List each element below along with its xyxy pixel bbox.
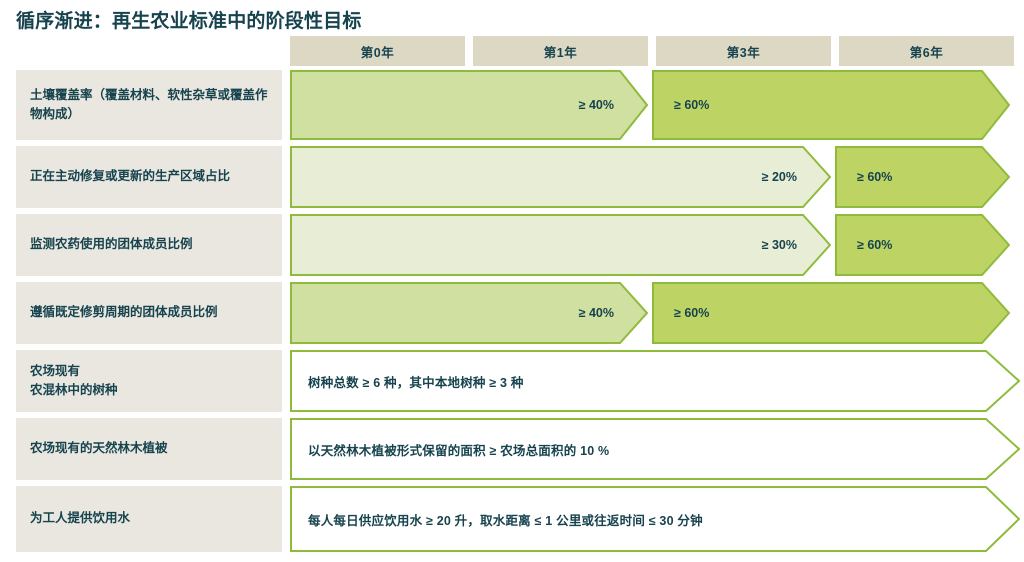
milestone-arrow: 每人每日供应饮用水 ≥ 20 升，取水距离 ≤ 1 公里或往返时间 ≤ 30 分… bbox=[290, 486, 1020, 552]
milestone-row-label-text: 正在主动修复或更新的生产区域占比 bbox=[30, 167, 230, 186]
milestone-row-track: ≥ 30%≥ 60% bbox=[290, 214, 1024, 276]
milestone-row: 农场现有的天然林木植被以天然林木植被形式保留的面积 ≥ 农场总面积的 10 % bbox=[0, 418, 1024, 480]
milestone-arrow-label: ≥ 60% bbox=[674, 98, 709, 112]
milestone-row-track: ≥ 20%≥ 60% bbox=[290, 146, 1024, 208]
milestone-row-label: 农场现有 农混林中的树种 bbox=[16, 350, 282, 412]
milestone-arrow: ≥ 60% bbox=[652, 282, 1010, 344]
timeline-header-cell: 第3年 bbox=[656, 36, 831, 66]
milestone-arrow: ≥ 40% bbox=[290, 282, 648, 344]
timeline-header-cell: 第1年 bbox=[473, 36, 648, 66]
timeline-header-label: 第3年 bbox=[727, 42, 760, 61]
timeline-header-label: 第1年 bbox=[544, 42, 577, 61]
milestone-arrow-label: ≥ 60% bbox=[674, 306, 709, 320]
milestone-row-label-text: 农场现有 农混林中的树种 bbox=[30, 362, 118, 401]
milestone-arrow-label: 树种总数 ≥ 6 种，其中本地树种 ≥ 3 种 bbox=[308, 372, 524, 391]
milestone-row-label-text: 监测农药使用的团体成员比例 bbox=[30, 235, 193, 254]
milestone-row-label: 为工人提供饮用水 bbox=[16, 486, 282, 552]
milestone-arrow: ≥ 20% bbox=[290, 146, 831, 208]
page-title: 循序渐进：再生农业标准中的阶段性目标 bbox=[16, 6, 362, 33]
milestone-arrow: ≥ 60% bbox=[652, 70, 1010, 140]
milestone-row-label-text: 遵循既定修剪周期的团体成员比例 bbox=[30, 303, 218, 322]
milestone-row-label: 监测农药使用的团体成员比例 bbox=[16, 214, 282, 276]
milestone-row-label-text: 农场现有的天然林木植被 bbox=[30, 439, 168, 458]
milestone-row: 正在主动修复或更新的生产区域占比≥ 20%≥ 60% bbox=[0, 146, 1024, 208]
milestone-row: 农场现有 农混林中的树种树种总数 ≥ 6 种，其中本地树种 ≥ 3 种 bbox=[0, 350, 1024, 412]
milestone-arrow-label: ≥ 40% bbox=[579, 98, 614, 112]
milestone-row-label: 农场现有的天然林木植被 bbox=[16, 418, 282, 480]
milestone-row-label: 土壤覆盖率（覆盖材料、软性杂草或覆盖作物构成） bbox=[16, 70, 282, 140]
milestone-row: 遵循既定修剪周期的团体成员比例≥ 40%≥ 60% bbox=[0, 282, 1024, 344]
timeline-header-label: 第6年 bbox=[910, 42, 943, 61]
milestone-row: 监测农药使用的团体成员比例≥ 30%≥ 60% bbox=[0, 214, 1024, 276]
milestone-row: 为工人提供饮用水每人每日供应饮用水 ≥ 20 升，取水距离 ≤ 1 公里或往返时… bbox=[0, 486, 1024, 552]
milestone-row-label-text: 土壤覆盖率（覆盖材料、软性杂草或覆盖作物构成） bbox=[30, 86, 268, 125]
milestone-arrow-label: 每人每日供应饮用水 ≥ 20 升，取水距离 ≤ 1 公里或往返时间 ≤ 30 分… bbox=[308, 510, 703, 529]
milestone-arrow: ≥ 40% bbox=[290, 70, 648, 140]
timeline-header-label: 第0年 bbox=[361, 42, 394, 61]
milestone-arrow-label: ≥ 40% bbox=[579, 306, 614, 320]
milestone-arrow-label: ≥ 20% bbox=[762, 170, 797, 184]
milestone-arrow: ≥ 60% bbox=[835, 146, 1010, 208]
milestone-arrow-label: ≥ 60% bbox=[857, 170, 892, 184]
milestone-row: 土壤覆盖率（覆盖材料、软性杂草或覆盖作物构成）≥ 40%≥ 60% bbox=[0, 70, 1024, 140]
milestone-arrow: 树种总数 ≥ 6 种，其中本地树种 ≥ 3 种 bbox=[290, 350, 1020, 412]
milestone-row-track: 每人每日供应饮用水 ≥ 20 升，取水距离 ≤ 1 公里或往返时间 ≤ 30 分… bbox=[290, 486, 1024, 552]
timeline-header-cell: 第6年 bbox=[839, 36, 1014, 66]
milestone-row-label-text: 为工人提供饮用水 bbox=[30, 509, 130, 528]
milestone-chart: 土壤覆盖率（覆盖材料、软性杂草或覆盖作物构成）≥ 40%≥ 60%正在主动修复或… bbox=[0, 70, 1024, 562]
milestone-arrow-label: ≥ 30% bbox=[762, 238, 797, 252]
milestone-row-label: 遵循既定修剪周期的团体成员比例 bbox=[16, 282, 282, 344]
milestone-row-label: 正在主动修复或更新的生产区域占比 bbox=[16, 146, 282, 208]
milestone-row-track: ≥ 40%≥ 60% bbox=[290, 282, 1024, 344]
milestone-arrow-label: 以天然林木植被形式保留的面积 ≥ 农场总面积的 10 % bbox=[308, 440, 609, 459]
milestone-arrow: ≥ 60% bbox=[835, 214, 1010, 276]
timeline-header-cell: 第0年 bbox=[290, 36, 465, 66]
milestone-row-track: 树种总数 ≥ 6 种，其中本地树种 ≥ 3 种 bbox=[290, 350, 1024, 412]
timeline-header: 第0年第1年第3年第6年 bbox=[290, 36, 1020, 66]
milestone-arrow-label: ≥ 60% bbox=[857, 238, 892, 252]
milestone-row-track: 以天然林木植被形式保留的面积 ≥ 农场总面积的 10 % bbox=[290, 418, 1024, 480]
milestone-row-track: ≥ 40%≥ 60% bbox=[290, 70, 1024, 140]
milestone-arrow: ≥ 30% bbox=[290, 214, 831, 276]
milestone-arrow: 以天然林木植被形式保留的面积 ≥ 农场总面积的 10 % bbox=[290, 418, 1020, 480]
